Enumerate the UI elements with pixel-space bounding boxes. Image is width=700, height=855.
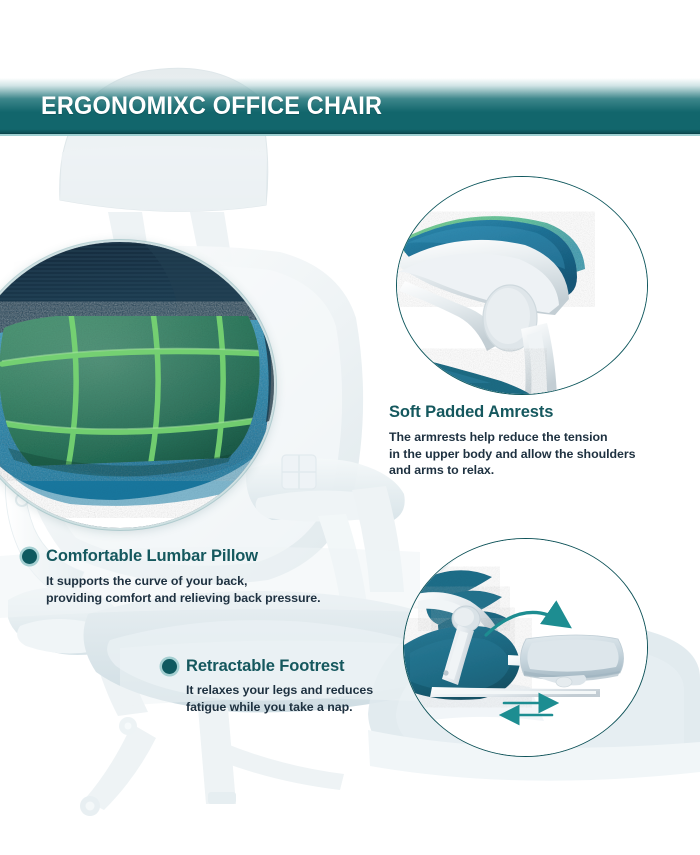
feature-body-footrest: It relaxes your legs and reduces fatigue… bbox=[186, 682, 373, 715]
feature-body-lumbar: It supports the curve of your back, prov… bbox=[46, 573, 321, 606]
feature-retractable-footrest: Retractable Footrest It relaxes your leg… bbox=[162, 657, 373, 715]
feature-title-armrests: Soft Padded Amrests bbox=[389, 403, 553, 422]
bullet-dot-icon bbox=[22, 549, 37, 564]
feature-heading-row: Comfortable Lumbar Pillow bbox=[22, 547, 321, 566]
feature-title-footrest: Retractable Footrest bbox=[186, 657, 344, 676]
feature-soft-padded-armrests: Soft Padded Amrests The armrests help re… bbox=[389, 403, 635, 479]
feature-title-lumbar: Comfortable Lumbar Pillow bbox=[46, 547, 258, 566]
page-title: ERGONOMIXC OFFICE CHAIR bbox=[41, 92, 382, 121]
feature-heading-row: Soft Padded Amrests bbox=[389, 403, 635, 422]
bullet-dot-icon bbox=[162, 659, 177, 674]
inset-lumbar-pillow-closeup bbox=[0, 240, 276, 530]
inset-footrest-closeup bbox=[403, 538, 648, 757]
product-infographic: ERGONOMIXC OFFICE CHAIR bbox=[0, 0, 700, 855]
feature-comfortable-lumbar-pillow: Comfortable Lumbar Pillow It supports th… bbox=[22, 547, 321, 606]
header-banner-underline bbox=[0, 133, 700, 136]
feature-body-armrests: The armrests help reduce the tension in … bbox=[389, 429, 635, 479]
feature-heading-row: Retractable Footrest bbox=[162, 657, 373, 676]
inset-armrest-closeup bbox=[396, 176, 648, 395]
